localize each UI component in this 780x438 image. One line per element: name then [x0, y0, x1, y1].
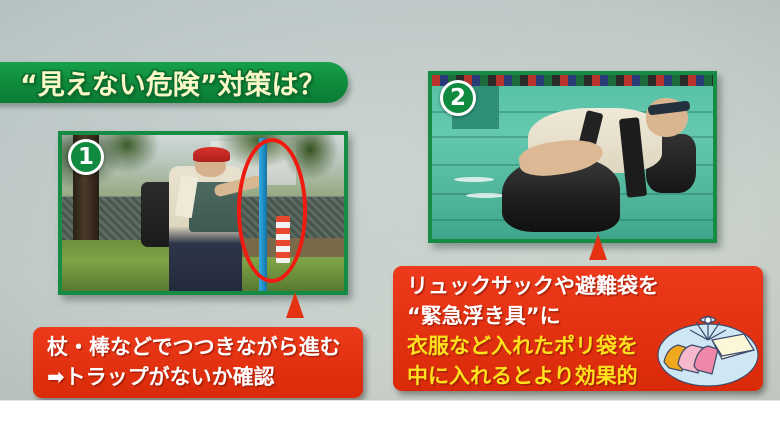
callout-2-tail	[589, 234, 607, 260]
panel-badge-2: 2	[440, 80, 476, 116]
water-foam	[454, 177, 493, 182]
callout-1-lines: 杖・棒などでつつきながら進む ➡トラップがないか確認	[47, 332, 353, 392]
red-ellipse-annotation	[237, 138, 307, 283]
callout-1-line-1: 杖・棒などでつつきながら進む	[47, 332, 353, 362]
bottom-white-band	[0, 400, 780, 438]
red-cap	[193, 147, 230, 161]
callout-1-tail	[286, 292, 304, 318]
broadcast-slide: “見えない危険”対策は？ 1	[0, 0, 780, 438]
photo-park-probing	[62, 135, 344, 291]
callout-1: 杖・棒などでつつきながら進む ➡トラップがないか確認	[33, 327, 363, 398]
callout-1-line-2: ➡トラップがないか確認	[47, 362, 353, 392]
clothes-in-plastic-bag-icon	[656, 310, 760, 388]
title-banner	[0, 62, 348, 103]
callout-2-line-1: リュックサックや避難袋を	[407, 271, 753, 301]
water-foam	[466, 193, 505, 198]
panel-badge-1: 1	[68, 139, 104, 175]
pool-flags	[432, 75, 713, 86]
